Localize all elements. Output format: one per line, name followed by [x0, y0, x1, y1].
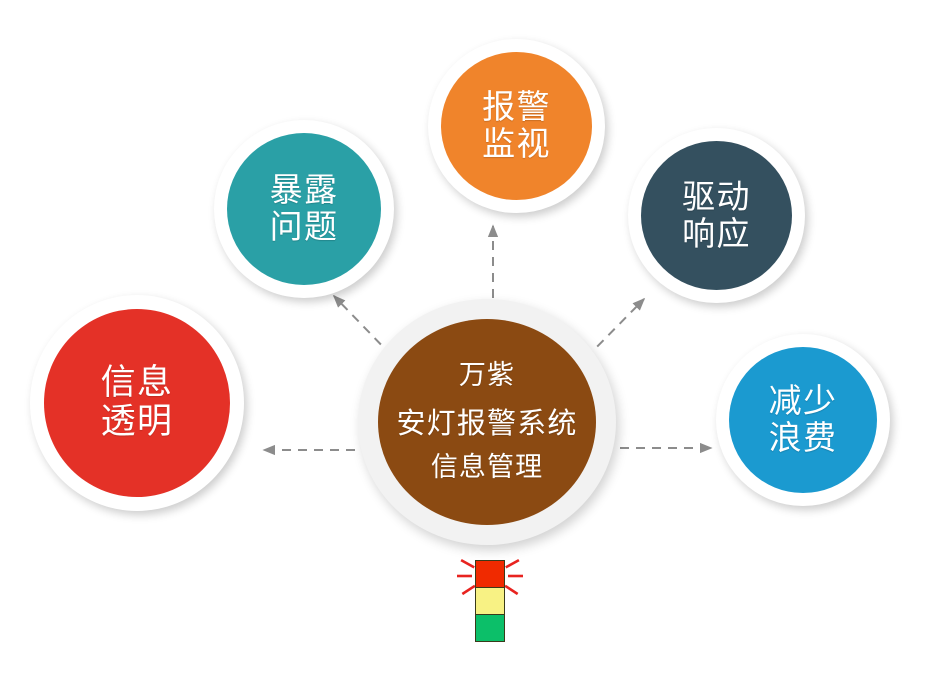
node-information-transparency[interactable]: 信息 透明	[30, 295, 244, 511]
node-expose-problems[interactable]: 暴露 问题	[214, 120, 394, 298]
node-information-transparency-line-1: 信息	[101, 364, 174, 403]
node-reduce-waste[interactable]: 减少 浪费	[716, 334, 890, 506]
andon-ray-5	[505, 586, 518, 594]
node-alarm-monitoring-disc: 报警 监视	[441, 52, 592, 200]
node-alarm-monitoring-line-1: 报警	[482, 89, 551, 126]
node-drive-response[interactable]: 驱动 响应	[628, 128, 805, 303]
node-expose-problems-line-2: 问题	[270, 209, 339, 246]
andon-lamp-green	[476, 615, 504, 641]
andon-lamp-red	[476, 561, 504, 588]
node-drive-response-disc: 驱动 响应	[641, 141, 792, 290]
center-hub-line-3: 信息管理	[431, 453, 543, 483]
connector-center-to-drive	[586, 299, 644, 358]
center-hub-line-2: 安灯报警系统	[397, 407, 578, 439]
node-alarm-monitoring[interactable]: 报警 监视	[428, 39, 605, 213]
center-hub-disc: 万紫 安灯报警系统 信息管理	[378, 319, 596, 525]
diagram-canvas: 万紫 安灯报警系统 信息管理 报警 监视 暴露 问题 驱动 响应 信息 透明	[0, 0, 939, 680]
andon-ray-2	[462, 586, 475, 594]
center-hub-node[interactable]: 万紫 安灯报警系统 信息管理	[358, 299, 616, 545]
andon-ray-3	[506, 560, 519, 567]
node-reduce-waste-disc: 减少 浪费	[729, 347, 877, 493]
node-information-transparency-line-2: 透明	[101, 403, 174, 442]
node-drive-response-line-2: 响应	[682, 216, 751, 253]
node-drive-response-line-1: 驱动	[682, 179, 751, 216]
andon-tower-body	[475, 560, 505, 642]
node-expose-problems-line-1: 暴露	[270, 172, 339, 209]
center-hub-line-1: 万紫	[459, 361, 515, 391]
node-reduce-waste-line-1: 减少	[769, 383, 838, 420]
node-alarm-monitoring-line-2: 监视	[482, 126, 551, 163]
andon-light-tower	[448, 548, 532, 648]
andon-lamp-yellow	[476, 588, 504, 615]
node-reduce-waste-line-2: 浪费	[769, 420, 838, 457]
node-information-transparency-disc: 信息 透明	[44, 309, 230, 497]
node-expose-problems-disc: 暴露 问题	[227, 133, 381, 285]
andon-ray-0	[461, 560, 474, 567]
